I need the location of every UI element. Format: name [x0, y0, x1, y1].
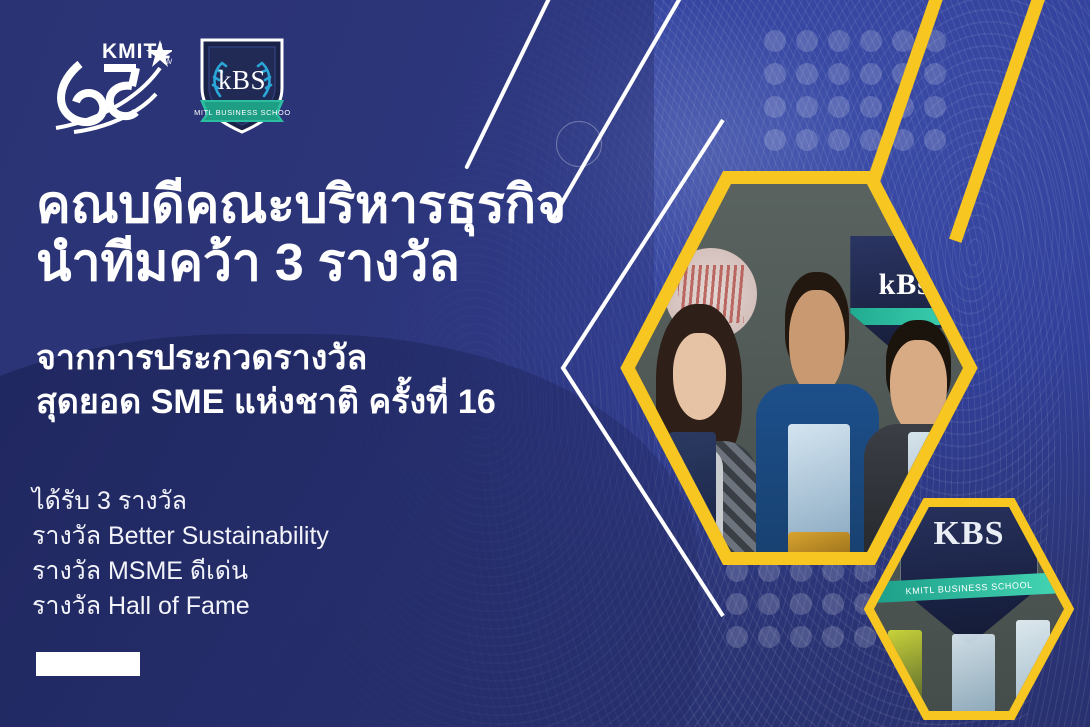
headline-line-2: นำทีมคว้า 3 รางวัล — [36, 234, 636, 292]
poster-canvas: kBs — [0, 0, 1090, 727]
kbs-shield-logo: kBS KMITL BUSINESS SCHOOL — [194, 30, 290, 136]
subheadline-line-2: สุดยอด SME แห่งชาติ ครั้งที่ 16 — [36, 381, 636, 425]
logo-row: KMITL TM — [44, 24, 290, 136]
award-list-item: ได้รับ 3 รางวัล — [32, 484, 552, 519]
headline: คณบดีคณะบริหารธุรกิจ นำทีมคว้า 3 รางวัล — [36, 176, 636, 292]
award-list-item: รางวัล Hall of Fame — [32, 589, 552, 624]
award-list-item: รางวัล MSME ดีเด่น — [32, 554, 552, 589]
photo-content-small: KBS KMITL BUSINESS SCHOOL — [862, 495, 1076, 723]
subheadline: จากการประกวดรางวัล สุดยอด SME แห่งชาติ ค… — [36, 337, 636, 424]
small-photo-ribbon-text: KMITL BUSINESS SCHOOL — [905, 579, 1033, 596]
award-list: ได้รับ 3 รางวัล รางวัล Better Sustainabi… — [32, 484, 552, 624]
kmitl-65-logo: KMITL TM — [44, 24, 172, 136]
award-list-item: รางวัล Better Sustainability — [32, 519, 552, 554]
blank-white-bar — [36, 652, 140, 676]
kbs-monogram: kBS — [218, 65, 266, 95]
hexagon-photo-small: KBS KMITL BUSINESS SCHOOL — [862, 495, 1076, 723]
kbs-ribbon-text: KMITL BUSINESS SCHOOL — [194, 108, 290, 117]
headline-line-1: คณบดีคณะบริหารธุรกิจ — [36, 176, 636, 234]
subheadline-line-1: จากการประกวดรางวัล — [36, 337, 636, 381]
